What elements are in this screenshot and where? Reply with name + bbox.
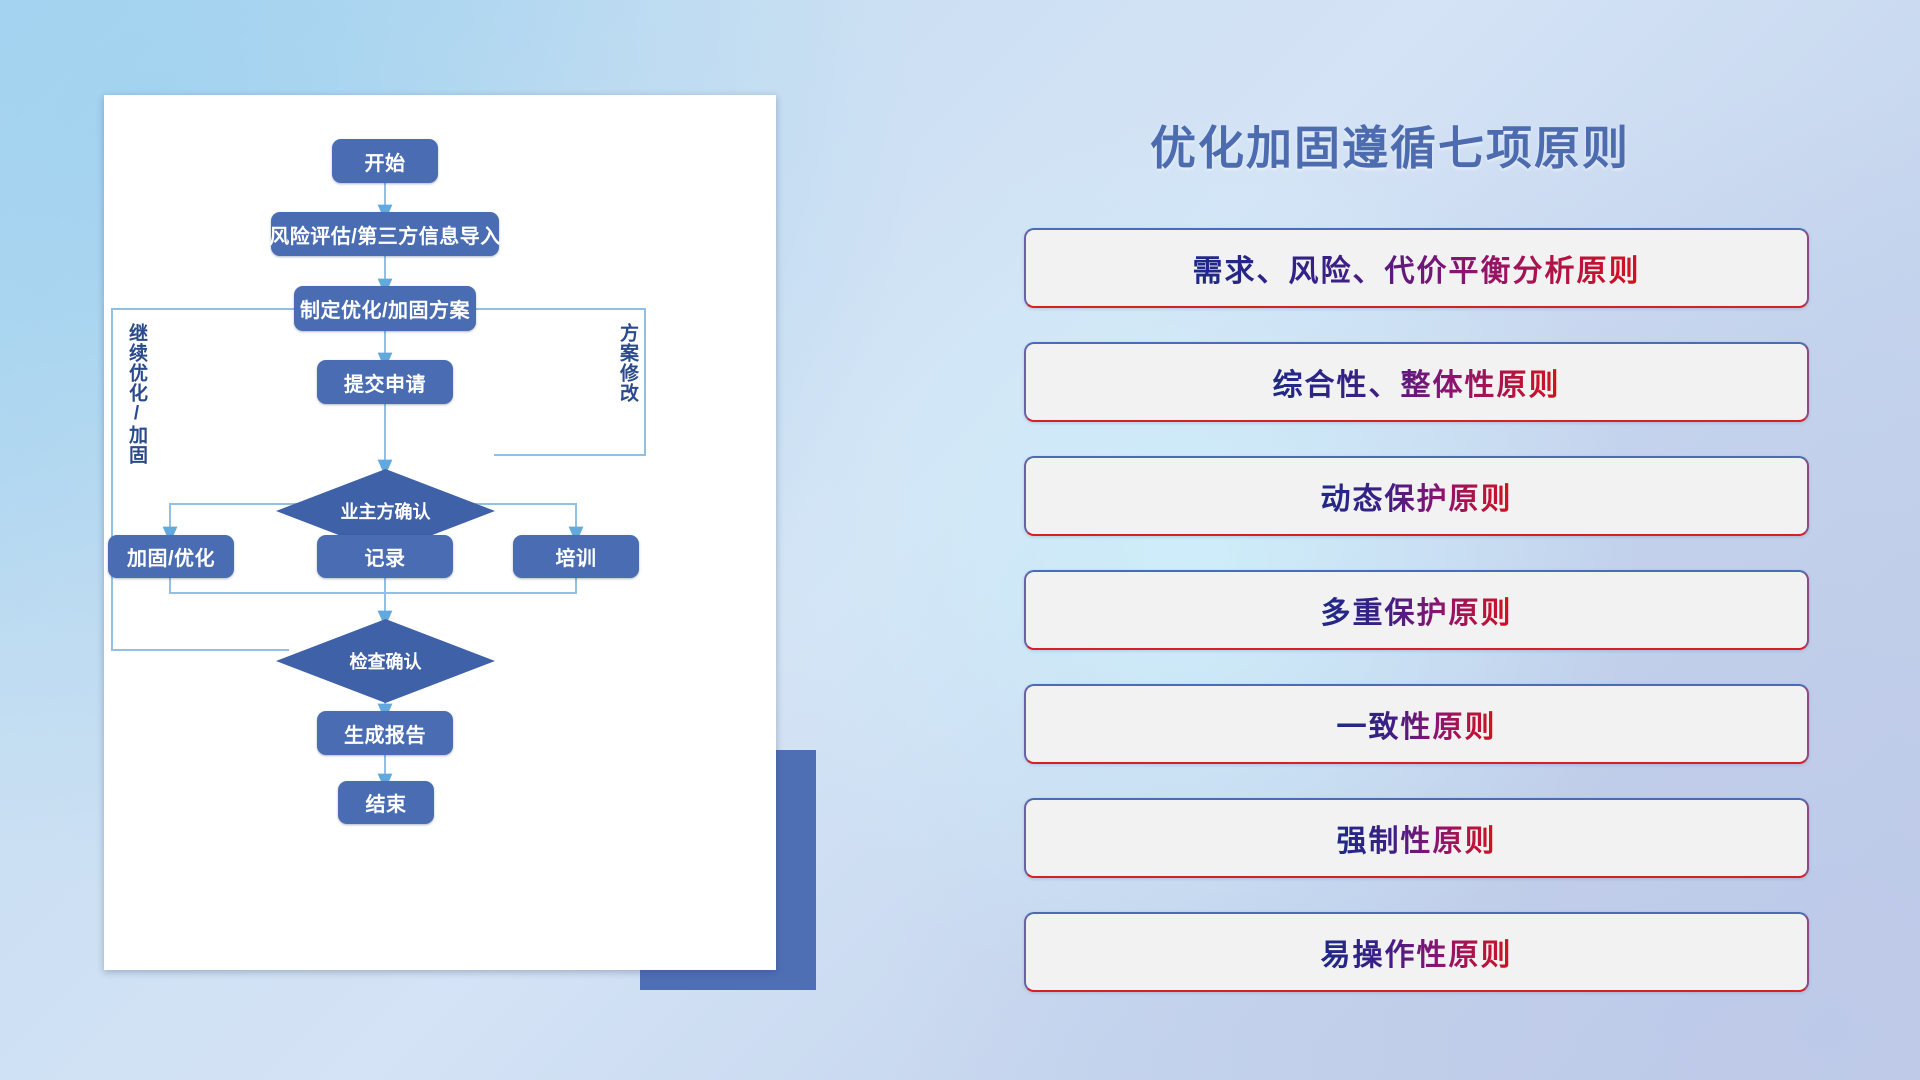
principle-item-5[interactable]: 一致性原则 (1024, 684, 1809, 764)
principle-item-1[interactable]: 需求、风险、代价平衡分析原则 (1024, 228, 1809, 308)
principle-label: 动态保护原则 (1321, 474, 1513, 518)
flow-node-make-plan[interactable]: 制定优化/加固方案 (294, 286, 476, 331)
principle-label: 需求、风险、代价平衡分析原则 (1193, 246, 1641, 290)
principle-label: 多重保护原则 (1321, 588, 1513, 632)
flow-node-end[interactable]: 结束 (338, 781, 434, 824)
principle-list: 需求、风险、代价平衡分析原则 综合性、整体性原则 动态保护原则 多重保护原则 一… (1024, 228, 1809, 1026)
edge-label-continue-optimize: 继续优化/加固 (126, 323, 147, 465)
flow-node-training[interactable]: 培训 (513, 535, 639, 578)
principle-label: 强制性原则 (1337, 816, 1497, 860)
flow-node-start[interactable]: 开始 (332, 139, 438, 183)
principle-item-6[interactable]: 强制性原则 (1024, 798, 1809, 878)
principle-item-3[interactable]: 动态保护原则 (1024, 456, 1809, 536)
page-title: 优化加固遵循七项原则 (1150, 112, 1630, 178)
principle-label: 易操作性原则 (1321, 930, 1513, 974)
principle-item-4[interactable]: 多重保护原则 (1024, 570, 1809, 650)
flow-node-risk-assessment[interactable]: 风险评估/第三方信息导入 (271, 212, 499, 256)
flow-node-submit-application[interactable]: 提交申请 (317, 360, 453, 404)
flowchart-card: 继续优化/加固 方案修改 开始 风险评估/第三方信息导入 制定优化/加固方案 提… (104, 95, 776, 970)
principle-item-7[interactable]: 易操作性原则 (1024, 912, 1809, 992)
principle-label: 一致性原则 (1337, 702, 1497, 746)
flow-node-record[interactable]: 记录 (317, 535, 453, 578)
slide-canvas: 继续优化/加固 方案修改 开始 风险评估/第三方信息导入 制定优化/加固方案 提… (0, 0, 1920, 1080)
flow-node-generate-report[interactable]: 生成报告 (317, 711, 453, 755)
principles-panel: 优化加固遵循七项原则 需求、风险、代价平衡分析原则 综合性、整体性原则 动态保护… (1010, 0, 1920, 1080)
flow-node-reinforce-optimize[interactable]: 加固/优化 (108, 535, 234, 578)
principle-label: 综合性、整体性原则 (1273, 360, 1561, 404)
principle-item-2[interactable]: 综合性、整体性原则 (1024, 342, 1809, 422)
edge-label-plan-revision: 方案修改 (617, 323, 638, 403)
